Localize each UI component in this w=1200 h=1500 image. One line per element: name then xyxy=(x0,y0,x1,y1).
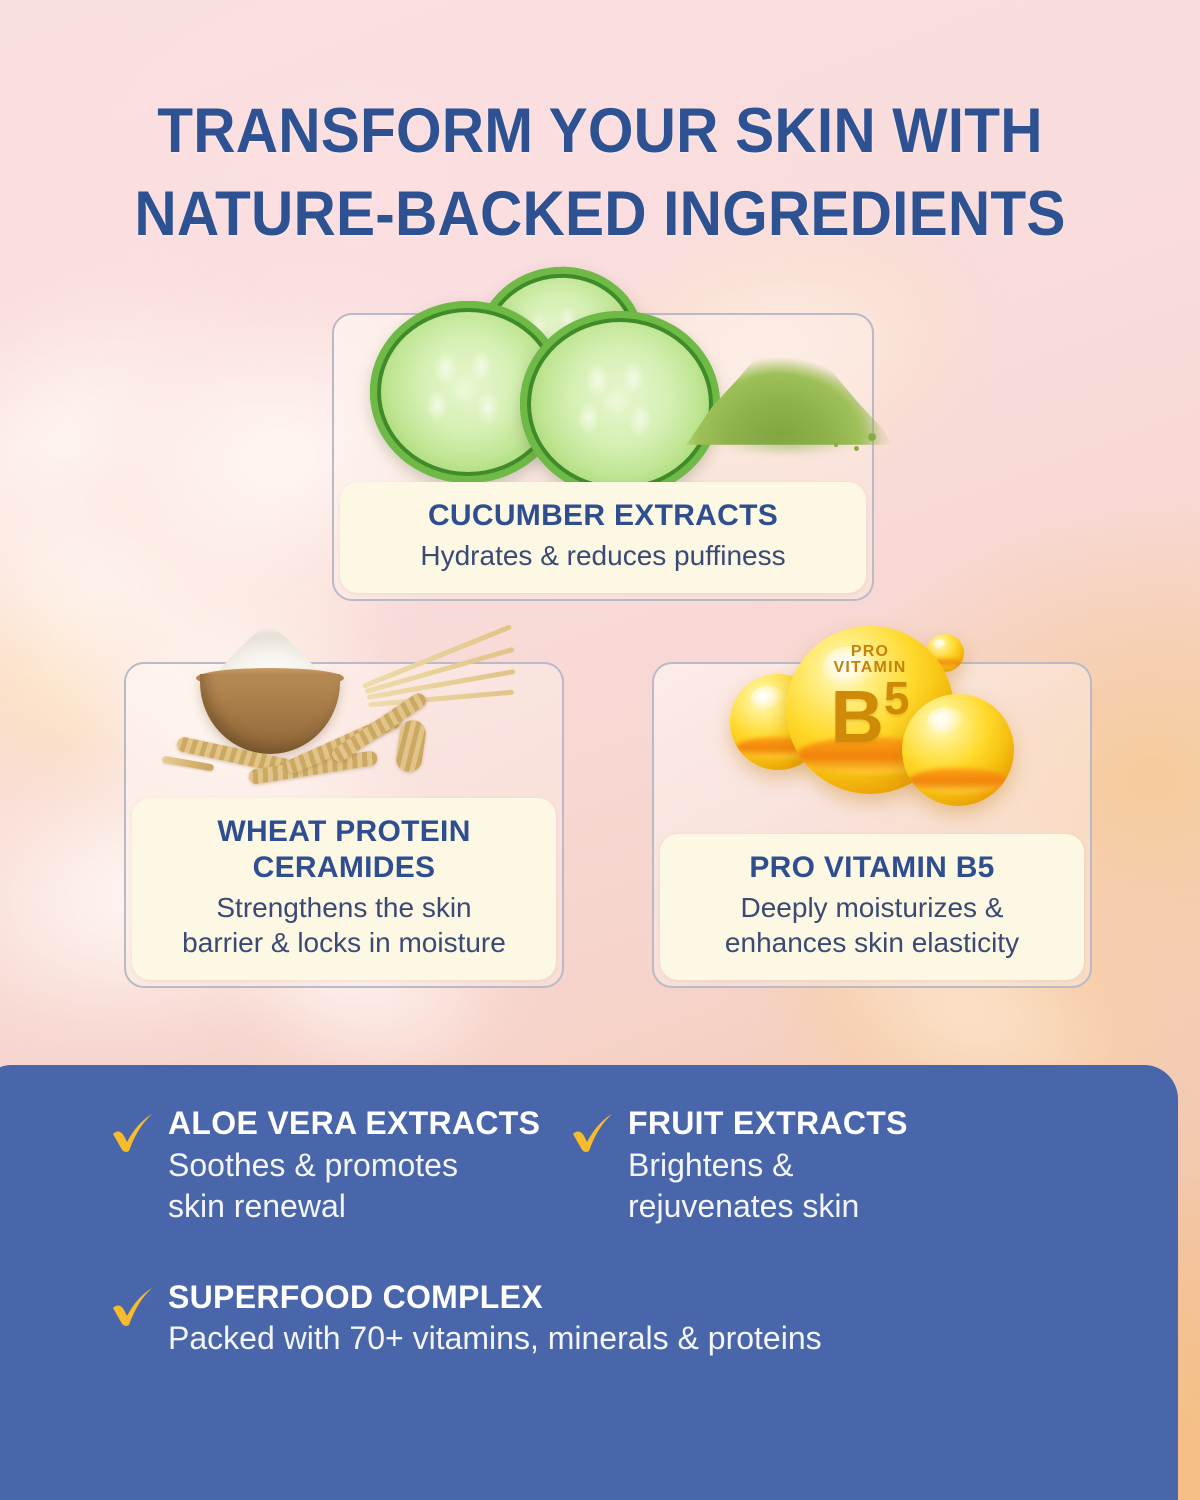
benefit-title: ALOE VERA EXTRACTS xyxy=(168,1105,570,1143)
benefit-description-line-2: skin renewal xyxy=(168,1186,570,1227)
card-caption: PRO VITAMIN B5 Deeply moisturizes & enha… xyxy=(660,834,1084,980)
benefits-panel: ALOE VERA EXTRACTS Soothes & promotes sk… xyxy=(0,1065,1178,1500)
benefit-text: SUPERFOOD COMPLEX Packed with 70+ vitami… xyxy=(168,1279,1010,1360)
check-icon xyxy=(570,1111,616,1157)
card-description-line-1: Strengthens the skin xyxy=(146,890,542,925)
card-title: PRO VITAMIN B5 xyxy=(674,850,1070,886)
benefit-item-fruit-extracts: FRUIT EXTRACTS Brightens & rejuvenates s… xyxy=(570,1105,1000,1227)
benefits-row: ALOE VERA EXTRACTS Soothes & promotes sk… xyxy=(110,1105,1138,1227)
check-icon xyxy=(110,1285,156,1331)
benefit-description-line-2: rejuvenates skin xyxy=(628,1186,1000,1227)
card-description: Hydrates & reduces puffiness xyxy=(354,538,852,573)
benefit-title: FRUIT EXTRACTS xyxy=(628,1105,1000,1143)
page-title-line-1: TRANSFORM YOUR SKIN WITH xyxy=(42,90,1158,173)
pro-vitamin-b5-golden-droplets-illustration: PRO VITAMIN B5 xyxy=(730,616,1030,826)
ingredient-card-cucumber: CUCUMBER EXTRACTS Hydrates & reduces puf… xyxy=(332,313,874,601)
card-description-line-2: barrier & locks in moisture xyxy=(146,925,542,960)
oil-droplet-icon xyxy=(902,694,1014,806)
benefit-description-line-1: Brightens & xyxy=(628,1145,1000,1186)
benefit-description-line-1: Soothes & promotes xyxy=(168,1145,570,1186)
page-title-line-2: NATURE-BACKED INGREDIENTS xyxy=(42,173,1158,256)
card-title-line-1: WHEAT PROTEIN xyxy=(146,814,542,850)
benefits-list: ALOE VERA EXTRACTS Soothes & promotes sk… xyxy=(110,1105,1138,1359)
card-description: Strengthens the skin barrier & locks in … xyxy=(146,890,542,960)
ingredient-card-wheat-protein: WHEAT PROTEIN CERAMIDES Strengthens the … xyxy=(124,662,564,988)
benefit-item-superfood-complex: SUPERFOOD COMPLEX Packed with 70+ vitami… xyxy=(110,1279,1010,1360)
ingredient-card-pro-vitamin-b5: PRO VITAMIN B5 PRO VITAMIN B5 Deeply moi… xyxy=(652,662,1092,988)
benefit-description: Brightens & rejuvenates skin xyxy=(628,1145,1000,1227)
card-title-line-2: CERAMIDES xyxy=(146,850,542,886)
card-description: Deeply moisturizes & enhances skin elast… xyxy=(674,890,1070,960)
card-caption: WHEAT PROTEIN CERAMIDES Strengthens the … xyxy=(132,798,556,980)
benefit-text: ALOE VERA EXTRACTS Soothes & promotes sk… xyxy=(168,1105,570,1227)
card-description-line-1: Deeply moisturizes & xyxy=(674,890,1070,925)
ingredients-infographic-poster: TRANSFORM YOUR SKIN WITH NATURE-BACKED I… xyxy=(0,0,1200,1500)
benefit-description: Soothes & promotes skin renewal xyxy=(168,1145,570,1227)
page-title: TRANSFORM YOUR SKIN WITH NATURE-BACKED I… xyxy=(42,90,1158,256)
wheat-ear-icon xyxy=(395,718,428,773)
benefit-title: SUPERFOOD COMPLEX xyxy=(168,1279,1010,1317)
check-icon xyxy=(110,1111,156,1157)
benefit-description-line-1: Packed with 70+ vitamins, minerals & pro… xyxy=(168,1318,1010,1359)
card-description-line-2: enhances skin elasticity xyxy=(674,925,1070,960)
wooden-bowl-icon xyxy=(200,674,340,754)
card-caption: CUCUMBER EXTRACTS Hydrates & reduces puf… xyxy=(340,482,866,593)
benefit-text: FRUIT EXTRACTS Brightens & rejuvenates s… xyxy=(628,1105,1000,1227)
wheat-stalk-icon xyxy=(162,756,214,772)
green-powder-mound-icon xyxy=(682,309,892,459)
benefit-item-aloe-vera: ALOE VERA EXTRACTS Soothes & promotes sk… xyxy=(110,1105,570,1227)
cucumber-slices-and-green-powder-photo xyxy=(352,275,872,505)
benefit-description: Packed with 70+ vitamins, minerals & pro… xyxy=(168,1318,1010,1359)
card-title: CUCUMBER EXTRACTS xyxy=(354,498,852,534)
card-title: WHEAT PROTEIN CERAMIDES xyxy=(146,814,542,886)
